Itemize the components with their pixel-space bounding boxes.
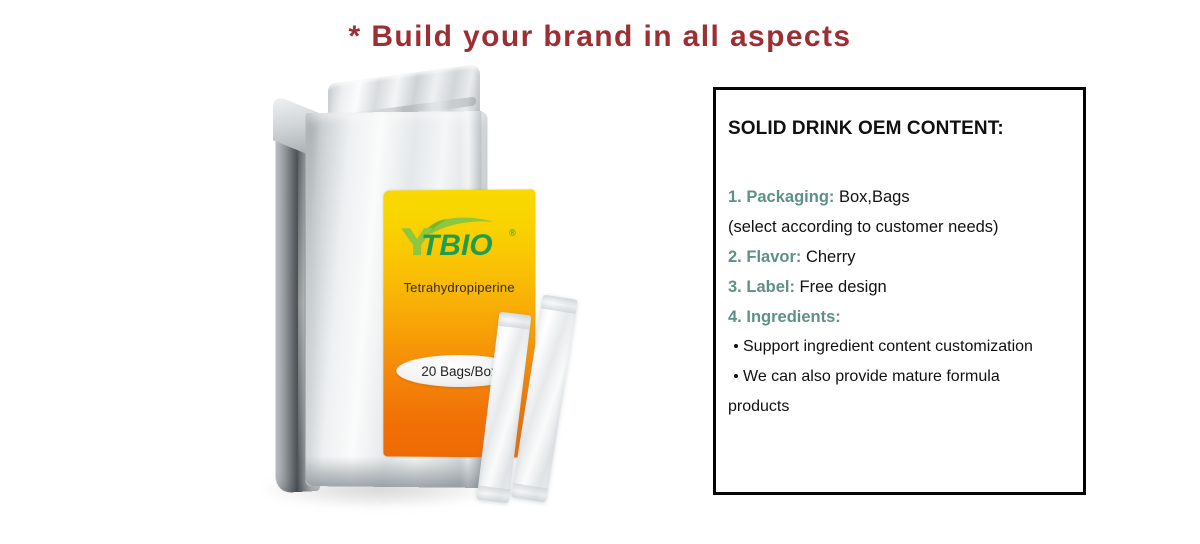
info-label-2: Flavor: [746, 248, 801, 266]
info-num-2: 2. [728, 248, 742, 266]
logo-registered-mark: ® [509, 228, 516, 238]
info-label-4: Ingredients: [746, 308, 840, 326]
info-key-label: 3. Label: [728, 278, 795, 296]
info-label-3: Label: [746, 278, 795, 296]
ingredient-bullet-2-text: We can also provide mature formula [743, 368, 1000, 385]
info-value-flavor: Cherry [806, 248, 856, 266]
ingredient-bullet-1-text: Support ingredient content customization [743, 338, 1033, 355]
info-num-1: 1. [728, 188, 742, 206]
info-value-label: Free design [800, 278, 887, 296]
info-num-3: 3. [728, 278, 742, 296]
packaging-note: (select according to customer needs) [728, 212, 1080, 242]
info-row-packaging: 1. Packaging: Box,Bags [728, 182, 1080, 212]
bullet-dot-icon [734, 344, 738, 348]
info-num-4: 4. [728, 308, 742, 326]
info-key-packaging: 1. Packaging: [728, 188, 834, 206]
ingredient-bullet-1: Support ingredient content customization [728, 332, 1080, 362]
logo-wordmark: TBIO [421, 229, 493, 258]
ytbio-logo: TBIO ® [397, 212, 523, 259]
bullet-dot-icon [734, 374, 738, 378]
info-value-packaging: Box,Bags [839, 188, 910, 206]
info-row-label: 3. Label: Free design [728, 272, 1080, 302]
info-row-flavor: 2. Flavor: Cherry [728, 242, 1080, 272]
product-name-label: Tetrahydropiperine [383, 280, 535, 295]
ytbio-logo-svg: TBIO ® [397, 212, 523, 259]
info-label-1: Packaging: [746, 188, 834, 206]
info-key-ingredients: 4. Ingredients: [728, 308, 841, 326]
oem-content-heading: SOLID DRINK OEM CONTENT: [728, 118, 1080, 140]
ingredient-bullet-2: We can also provide mature formula [728, 362, 1080, 392]
oem-content-box: SOLID DRINK OEM CONTENT: 1. Packaging: B… [713, 87, 1086, 495]
info-key-flavor: 2. Flavor: [728, 248, 801, 266]
page-root: * Build your brand in all aspects [0, 0, 1200, 544]
product-photo: TBIO ® Tetrahydropiperine 20 Bags/Box [205, 62, 605, 524]
product-bag: TBIO ® Tetrahydropiperine 20 Bags/Box [265, 62, 495, 502]
oem-content-inner: SOLID DRINK OEM CONTENT: 1. Packaging: B… [728, 118, 1080, 422]
page-title: * Build your brand in all aspects [0, 20, 1200, 54]
ingredient-bullet-2-continuation: products [728, 392, 1080, 422]
info-row-ingredients: 4. Ingredients: [728, 302, 1080, 332]
